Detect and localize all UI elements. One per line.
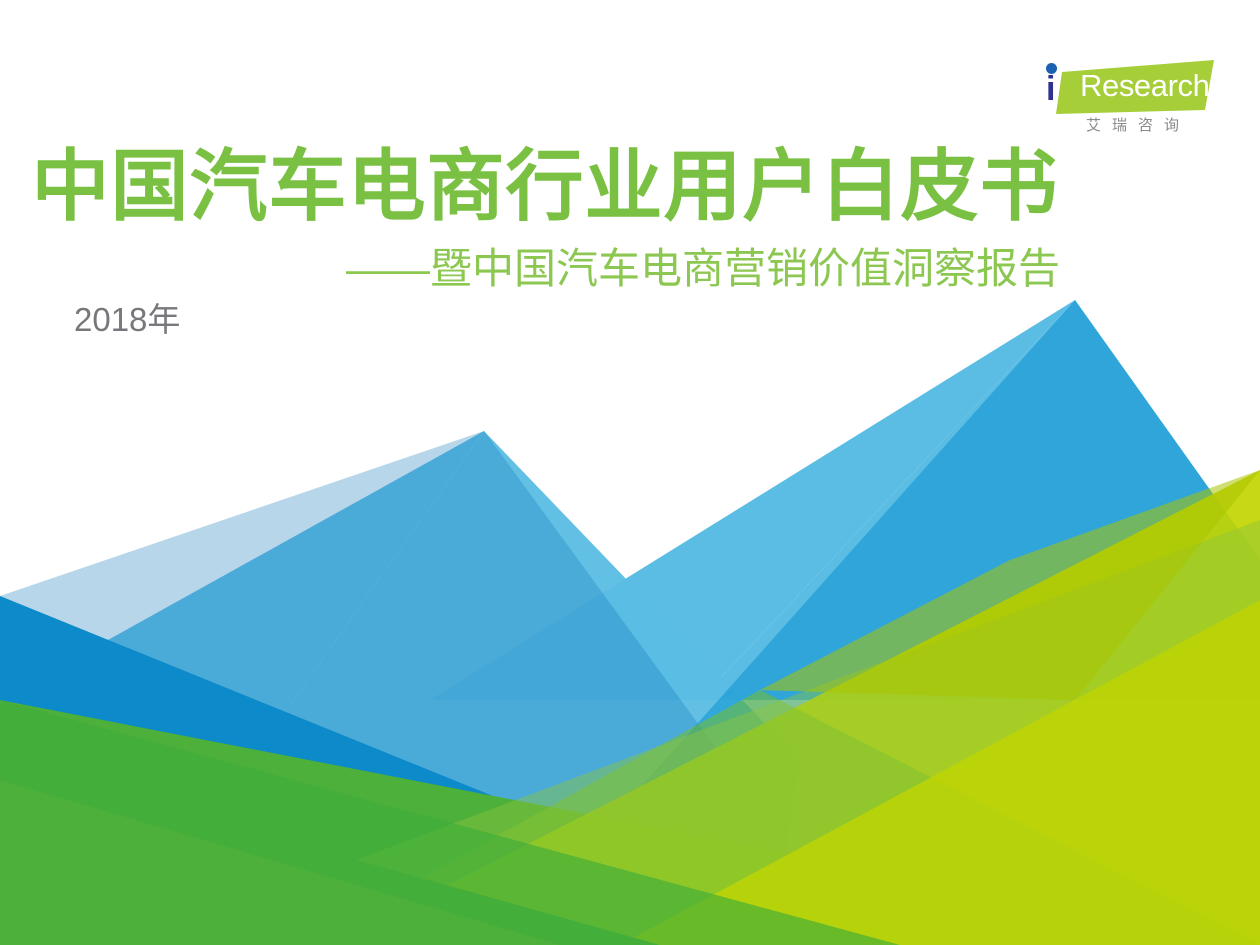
page-title: 中国汽车电商行业用户白皮书: [0, 143, 1090, 229]
iresearch-logo: i Research 艾瑞咨询: [1022, 58, 1222, 148]
logo-wordmark: Research: [1080, 66, 1209, 106]
page-subtitle: ——暨中国汽车电商营销价值洞察报告: [0, 243, 1080, 295]
logo-subtitle: 艾瑞咨询: [1040, 116, 1225, 136]
report-cover-slide: i Research 艾瑞咨询 中国汽车电商行业用户白皮书 ——暨中国汽车电商营…: [0, 0, 1260, 945]
publication-year: 2018年: [74, 298, 180, 342]
logo-initial: i: [1046, 72, 1055, 106]
